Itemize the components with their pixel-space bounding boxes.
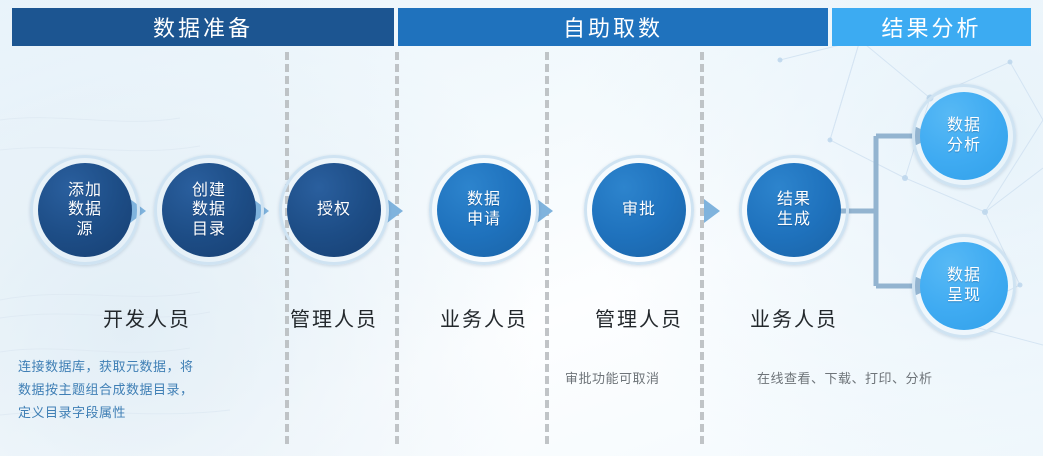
description-line: 连接数据库，获取元数据，将	[18, 356, 278, 379]
column-divider-1	[285, 52, 289, 444]
node-label: 授权	[317, 200, 351, 220]
node-label: 结果 生成	[777, 190, 811, 229]
description-result: 在线查看、下载、打印、分析	[757, 368, 997, 391]
node-label-line: 数据	[947, 117, 981, 134]
node-label: 数据 呈现	[947, 266, 981, 305]
node-data-analysis[interactable]: 数据 分析	[920, 92, 1008, 180]
flow-diagram-canvas: 数据准备 自助取数 结果分析 添加	[0, 0, 1043, 456]
node-label-line: 源	[76, 221, 93, 238]
node-label-line: 数据	[192, 201, 226, 218]
node-label-line: 分析	[947, 137, 981, 154]
phase-header-self-service-extraction: 自助取数	[398, 8, 828, 46]
phase-header-data-preparation: 数据准备	[12, 8, 394, 46]
phase-header-label: 结果分析	[881, 11, 981, 43]
step-arrow-3	[387, 199, 403, 223]
description-line: 在线查看、下载、打印、分析	[757, 368, 997, 391]
node-label-line: 结果	[777, 191, 811, 208]
phase-header-row: 数据准备 自助取数 结果分析	[0, 0, 1043, 48]
phase-header-result-analysis: 结果分析	[832, 8, 1031, 46]
node-authorization[interactable]: 授权	[287, 163, 381, 257]
node-data-presentation[interactable]: 数据 呈现	[920, 242, 1008, 330]
column-divider-3	[545, 52, 549, 444]
role-label-developer: 开发人员	[38, 303, 256, 332]
node-label-line: 数据	[68, 201, 102, 218]
role-label-administrator-2: 管理人员	[592, 303, 686, 332]
node-add-data-source[interactable]: 添加 数据 源	[38, 163, 132, 257]
node-create-data-catalog[interactable]: 创建 数据 目录	[162, 163, 256, 257]
node-label-line: 目录	[192, 221, 226, 238]
node-data-request[interactable]: 数据 申请	[437, 163, 531, 257]
node-label: 数据 分析	[947, 116, 981, 155]
node-label-line: 数据	[947, 267, 981, 284]
description-line: 审批功能可取消	[565, 368, 725, 391]
role-label-business-2: 业务人员	[747, 303, 841, 332]
column-divider-2	[395, 52, 399, 444]
node-label-line: 呈现	[947, 287, 981, 304]
node-result-generation[interactable]: 结果 生成	[747, 163, 841, 257]
phase-header-label: 数据准备	[153, 11, 253, 43]
role-label-administrator-1: 管理人员	[287, 303, 381, 332]
node-label: 数据 申请	[467, 190, 501, 229]
node-label: 审批	[622, 200, 656, 220]
step-arrow-5	[704, 199, 720, 223]
node-label-line: 数据	[467, 191, 501, 208]
node-label: 创建 数据 目录	[192, 181, 226, 240]
phase-header-label: 自助取数	[563, 11, 663, 43]
node-label-line: 申请	[467, 211, 501, 228]
role-label-business-1: 业务人员	[437, 303, 531, 332]
description-line: 定义目录字段属性	[18, 402, 278, 425]
node-label-line: 添加	[68, 182, 102, 199]
node-label: 添加 数据 源	[68, 181, 102, 240]
node-label-line: 创建	[192, 182, 226, 199]
description-line: 数据按主题组合成数据目录，	[18, 379, 278, 402]
node-label-line: 生成	[777, 211, 811, 228]
step-arrow-4	[537, 199, 553, 223]
description-data-preparation: 连接数据库，获取元数据，将 数据按主题组合成数据目录， 定义目录字段属性	[18, 356, 278, 424]
node-approval[interactable]: 审批	[592, 163, 686, 257]
description-approval: 审批功能可取消	[565, 368, 725, 391]
